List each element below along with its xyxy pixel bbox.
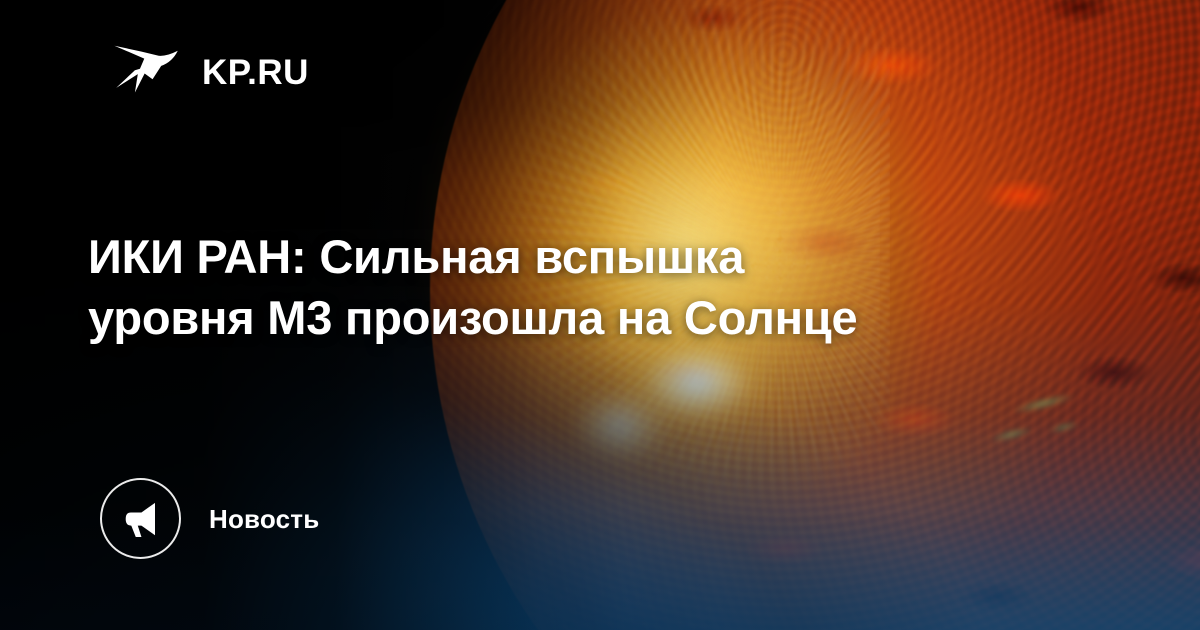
news-share-card: KP.RU ИКИ РАН: Сильная вспышка уровня М3… xyxy=(0,0,1200,630)
megaphone-icon xyxy=(120,498,162,540)
brand-name: KP.RU xyxy=(202,55,309,90)
page-title: ИКИ РАН: Сильная вспышка уровня М3 произ… xyxy=(88,226,1088,348)
headline-line-2: уровня М3 произошла на Солнце xyxy=(88,287,1088,348)
badge-icon-circle xyxy=(100,478,181,559)
status-badge[interactable]: Новость xyxy=(100,478,319,559)
card-content: KP.RU ИКИ РАН: Сильная вспышка уровня М3… xyxy=(0,0,1200,630)
badge-label: Новость xyxy=(209,506,319,532)
brand-logo[interactable]: KP.RU xyxy=(108,36,309,108)
headline-line-1: ИКИ РАН: Сильная вспышка xyxy=(88,226,1088,287)
swallow-bird-icon xyxy=(108,36,182,108)
